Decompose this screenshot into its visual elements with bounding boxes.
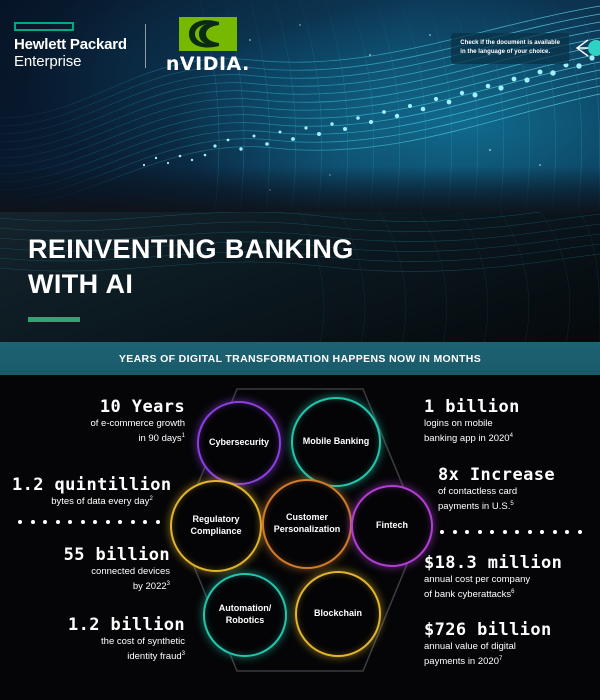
divider-dots-left bbox=[18, 520, 160, 524]
subtitle-bar-text: YEARS OF DIGITAL TRANSFORMATION HAPPENS … bbox=[119, 353, 481, 365]
circle-blockchain[interactable]: Blockchain bbox=[295, 571, 381, 657]
stat-right-3: $18.3 million annual cost per company of… bbox=[424, 553, 596, 603]
circle-label: Cybersecurity bbox=[205, 437, 273, 449]
circle-mobile-banking[interactable]: Mobile Banking bbox=[291, 397, 381, 487]
stat-desc1: of contactless card bbox=[438, 485, 598, 500]
stat-desc2: identity fraud3 bbox=[10, 650, 185, 665]
stat-left-2: 1.2 quintillion bytes of data every day2 bbox=[12, 475, 192, 510]
hpe-logo[interactable]: Hewlett Packard Enterprise bbox=[14, 22, 127, 71]
title-line2: WITH AI bbox=[28, 267, 354, 302]
stat-ref: 2 bbox=[149, 496, 152, 502]
circle-label: Automation/ Robotics bbox=[205, 603, 285, 626]
language-note-line2: in the language of your choice. bbox=[460, 48, 560, 57]
stat-left-3: 55 billion connected devices by 20223 bbox=[10, 545, 170, 595]
nvidia-wordmark: nVIDIA. bbox=[166, 53, 250, 75]
stat-desc1: annual value of digital bbox=[424, 640, 596, 655]
circle-fintech[interactable]: Fintech bbox=[351, 485, 433, 567]
stat-number: 1.2 billion bbox=[10, 615, 185, 635]
stat-desc1-text: bytes of data every day bbox=[51, 497, 149, 508]
stat-desc1: logins on mobile bbox=[424, 417, 596, 432]
circle-label: Mobile Banking bbox=[299, 436, 374, 448]
stat-desc2-text: by 2022 bbox=[133, 581, 167, 592]
divider-dots-right bbox=[440, 530, 582, 534]
stat-right-1: 1 billion logins on mobile banking app i… bbox=[424, 397, 596, 447]
circle-label: Blockchain bbox=[310, 608, 366, 620]
stat-desc2: payments in 20207 bbox=[424, 655, 596, 670]
language-note-box: Check if the document is available in th… bbox=[451, 33, 569, 64]
stat-number: $726 billion bbox=[424, 620, 596, 640]
callout-arrow bbox=[574, 37, 600, 59]
stat-desc2-text: identity fraud bbox=[127, 651, 181, 662]
stats-section: 10 Years of e-commerce growth in 90 days… bbox=[0, 375, 600, 700]
stat-ref: 5 bbox=[510, 501, 513, 507]
circle-customer-personalization[interactable]: Customer Personalization bbox=[262, 479, 352, 569]
stat-number: 10 Years bbox=[10, 397, 185, 417]
stat-desc2: by 20223 bbox=[10, 580, 170, 595]
language-note-line1: Check if the document is available bbox=[460, 39, 560, 48]
stat-ref: 3 bbox=[167, 581, 170, 587]
stat-number: 1.2 quintillion bbox=[12, 475, 192, 495]
stat-desc2: payments in U.S.5 bbox=[438, 500, 598, 515]
stat-desc2-text: of bank cyberattacks bbox=[424, 589, 511, 600]
title-accent-rule bbox=[28, 317, 80, 322]
circle-regulatory-compliance[interactable]: Regulatory Compliance bbox=[170, 480, 262, 572]
stat-ref: 7 bbox=[499, 656, 502, 662]
callout-dot-icon bbox=[588, 40, 600, 56]
stat-number: 1 billion bbox=[424, 397, 596, 417]
stat-desc2-text: payments in 2020 bbox=[424, 656, 499, 667]
title-band: REINVENTING BANKING WITH AI bbox=[0, 212, 600, 342]
hexagon-diagram: Cybersecurity Mobile Banking Regulatory … bbox=[175, 385, 425, 675]
stat-desc1: bytes of data every day2 bbox=[12, 495, 192, 510]
stat-left-4: 1.2 billion the cost of synthetic identi… bbox=[10, 615, 185, 665]
stat-desc1: the cost of synthetic bbox=[10, 635, 185, 650]
circle-label: Regulatory Compliance bbox=[172, 514, 260, 537]
nvidia-logo[interactable]: nVIDIA. bbox=[166, 17, 250, 75]
nvidia-eye-icon bbox=[179, 17, 237, 51]
stat-number: 8x Increase bbox=[438, 465, 598, 485]
circle-automation-robotics[interactable]: Automation/ Robotics bbox=[203, 573, 287, 657]
hero-bottom-fade bbox=[0, 166, 600, 212]
hpe-rectangle-icon bbox=[14, 22, 74, 31]
subtitle-bar: YEARS OF DIGITAL TRANSFORMATION HAPPENS … bbox=[0, 342, 600, 375]
stat-desc2: of bank cyberattacks6 bbox=[424, 588, 596, 603]
stat-right-4: $726 billion annual value of digital pay… bbox=[424, 620, 596, 670]
hpe-logo-line1: Hewlett Packard bbox=[14, 37, 127, 54]
circle-label: Customer Personalization bbox=[264, 512, 350, 535]
stat-desc1: connected devices bbox=[10, 565, 170, 580]
stat-number: $18.3 million bbox=[424, 553, 596, 573]
stat-desc1: of e-commerce growth bbox=[10, 417, 185, 432]
stat-left-1: 10 Years of e-commerce growth in 90 days… bbox=[10, 397, 185, 447]
logo-divider bbox=[145, 24, 146, 68]
stat-desc2: in 90 days1 bbox=[10, 432, 185, 447]
stat-ref: 6 bbox=[511, 589, 514, 595]
hpe-logo-line2: Enterprise bbox=[14, 54, 127, 71]
stat-desc1: annual cost per company bbox=[424, 573, 596, 588]
stat-desc2-text: payments in U.S. bbox=[438, 501, 510, 512]
stat-right-2: 8x Increase of contactless card payments… bbox=[438, 465, 598, 515]
stat-number: 55 billion bbox=[10, 545, 170, 565]
circle-label: Fintech bbox=[372, 520, 412, 532]
stat-desc2-text: banking app in 2020 bbox=[424, 433, 510, 444]
circle-cybersecurity[interactable]: Cybersecurity bbox=[197, 401, 281, 485]
language-availability-callout[interactable]: Check if the document is available in th… bbox=[451, 33, 600, 64]
stat-desc2: banking app in 20204 bbox=[424, 432, 596, 447]
title-line1: REINVENTING BANKING bbox=[28, 232, 354, 267]
page-title: REINVENTING BANKING WITH AI bbox=[28, 232, 354, 322]
stat-ref: 4 bbox=[510, 433, 513, 439]
